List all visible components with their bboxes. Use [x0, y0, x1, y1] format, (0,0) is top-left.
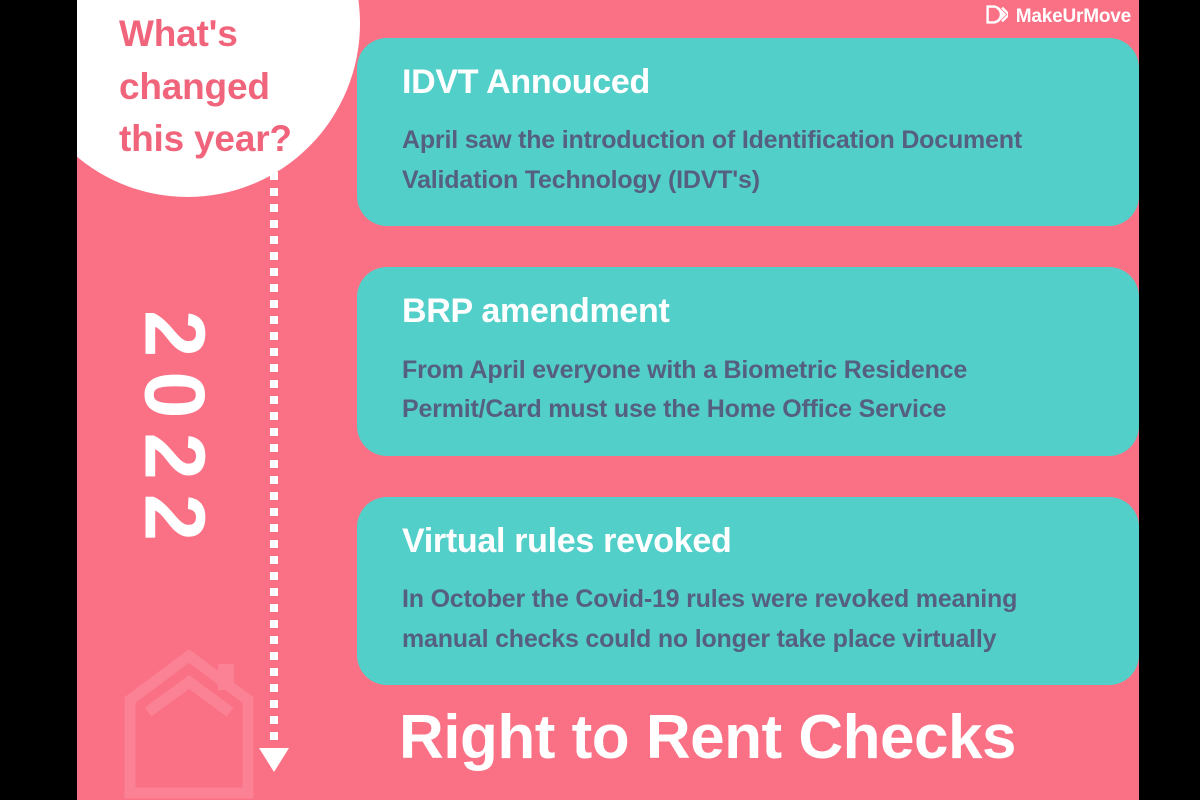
card-title: Virtual rules revoked [402, 523, 1107, 560]
brand-logo-text: MakeUrMove [1016, 6, 1131, 28]
card-title: IDVT Annouced [402, 64, 1107, 101]
year-label: 2022 [132, 283, 217, 583]
timeline-dotted-line [270, 172, 278, 750]
blob-heading: What's changed this year? [119, 8, 349, 166]
brand-logo[interactable]: MakeUrMove [986, 5, 1131, 29]
timeline-card[interactable]: BRP amendment From April everyone with a… [357, 267, 1139, 455]
infographic-canvas: What's changed this year? 2022 [77, 0, 1139, 800]
d-chevron-icon [986, 5, 1008, 29]
card-body: April saw the introduction of Identifica… [402, 121, 1107, 200]
timeline-cards: IDVT Annouced April saw the introduction… [357, 38, 1139, 726]
timeline-card[interactable]: Virtual rules revoked In October the Cov… [357, 497, 1139, 685]
timeline-card[interactable]: IDVT Annouced April saw the introduction… [357, 38, 1139, 226]
page-title: Right to Rent Checks [399, 705, 1016, 770]
house-icon [124, 650, 254, 800]
down-arrow-icon [259, 748, 289, 772]
infographic-stage: What's changed this year? 2022 [0, 0, 1200, 800]
card-body: In October the Covid-19 rules were revok… [402, 580, 1107, 659]
card-body: From April everyone with a Biometric Res… [402, 351, 1107, 430]
card-title: BRP amendment [402, 293, 1107, 330]
